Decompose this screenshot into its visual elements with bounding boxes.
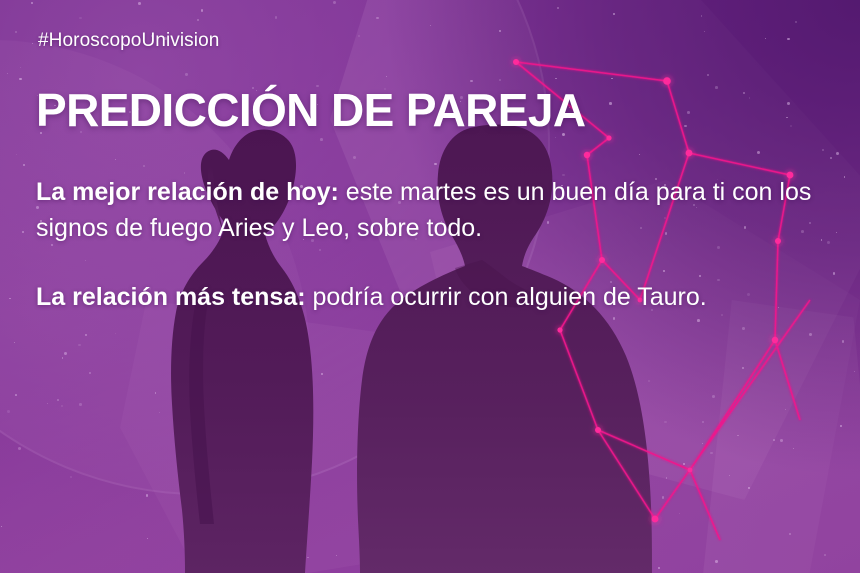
prediction-lead-tense: La relación más tensa: [36, 283, 306, 311]
prediction-paragraph-tense: La relación más tensa: podría ocurrir co… [36, 280, 826, 316]
prediction-paragraph-best: La mejor relación de hoy: este martes es… [36, 175, 826, 246]
prediction-body: La mejor relación de hoy: este martes es… [36, 175, 826, 316]
prediction-lead-best: La mejor relación de hoy: [36, 178, 339, 206]
content-area: #HoroscopoUnivision PREDICCIÓN DE PAREJA… [0, 0, 860, 573]
horoscope-card: #HoroscopoUnivision PREDICCIÓN DE PAREJA… [0, 0, 860, 573]
hashtag: #HoroscopoUnivision [38, 31, 826, 50]
prediction-text-tense: podría ocurrir con alguien de Tauro. [306, 283, 707, 311]
page-title: PREDICCIÓN DE PAREJA [36, 87, 826, 133]
